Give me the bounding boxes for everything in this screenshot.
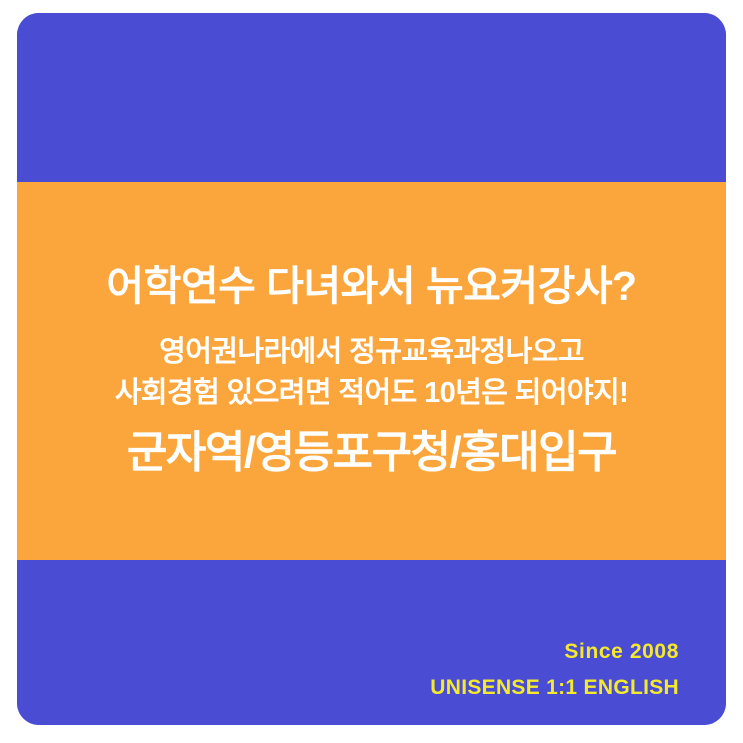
subline-text-2: 사회경험 있으려면 적어도 10년은 되어야지!	[115, 373, 628, 414]
headline-text: 어학연수 다녀와서 뉴요커강사?	[106, 263, 636, 310]
brand-block: Since 2008 UNISENSE 1:1 ENGLISH	[430, 638, 679, 703]
locations-text: 군자역/영등포구청/홍대입구	[127, 428, 616, 479]
subline-text-1: 영어권나라에서 정규교육과정나오고	[159, 332, 584, 373]
promo-banner-card: 어학연수 다녀와서 뉴요커강사? 영어권나라에서 정규교육과정나오고 사회경험 …	[17, 13, 726, 725]
bottom-blue-panel: Since 2008 UNISENSE 1:1 ENGLISH	[17, 560, 726, 725]
brand-name-text: UNISENSE 1:1 ENGLISH	[430, 674, 679, 702]
orange-content-panel: 어학연수 다녀와서 뉴요커강사? 영어권나라에서 정규교육과정나오고 사회경험 …	[17, 182, 726, 560]
top-blue-panel	[17, 13, 726, 182]
brand-since-text: Since 2008	[430, 638, 679, 666]
